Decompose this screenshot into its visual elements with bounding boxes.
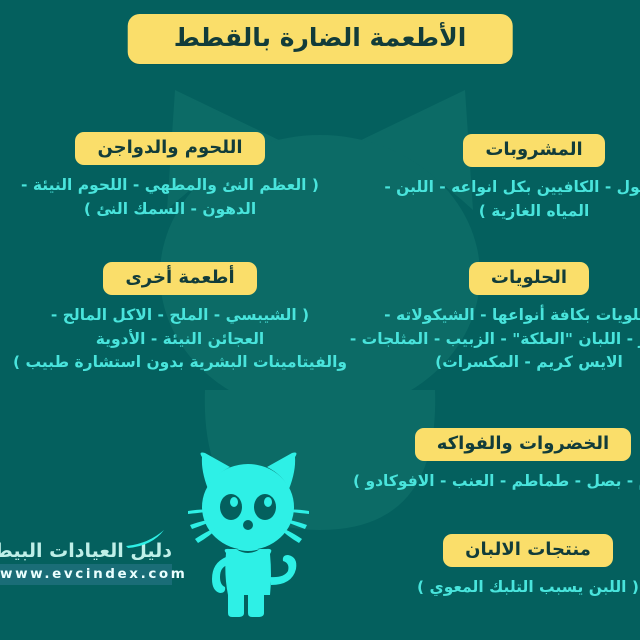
section-line: الايس كريم - المكسرات) — [374, 351, 640, 375]
section-badge-beverages: المشروبات — [463, 134, 604, 167]
section-beverages: المشروبات ( الكحول - الكافيين بكل انواعه… — [384, 134, 640, 223]
section-badge-dairy-products: منتجات الالبان — [443, 534, 613, 567]
section-badge-vegetables-and-fruits: الخضروات والفواكه — [415, 428, 631, 461]
section-line: المياه الغازية ) — [384, 200, 640, 224]
section-badge-other-foods: أطعمة أخرى — [103, 262, 256, 295]
section-line: ( ثوم - بصل - طماطم - العنب - الافوكادو … — [368, 470, 640, 494]
section-body-meat: ( العظم النئ والمطهي - اللحوم النيئة - ا… — [0, 174, 350, 221]
section-line: العجائن النيئة - الأدوية — [0, 328, 370, 352]
section-line: والفيتامينات البشرية بدون استشارة طبيب ) — [0, 351, 370, 375]
section-vegetables-and-fruits: الخضروات والفواكه ( ثوم - بصل - طماطم - … — [368, 428, 640, 494]
section-line: الدهون - السمك النئ ) — [0, 198, 350, 222]
section-line: ( الكحول - الكافيين بكل انواعه - اللبن - — [384, 176, 640, 200]
section-body-sweets: ( الحلويات بكافة أنواعها - الشيكولاته - … — [374, 304, 640, 375]
brand-website-url[interactable]: www.evcindex.com — [0, 564, 172, 585]
section-badge-sweets: الحلويات — [469, 262, 589, 295]
section-sweets: الحلويات ( الحلويات بكافة أنواعها - الشي… — [374, 262, 640, 375]
brand-logo: دليل العيادات البيطرية www.evcindex.com — [0, 540, 172, 585]
page-title: الأطعمة الضارة بالقطط — [128, 14, 513, 64]
section-dairy-products: منتجات الالبان ( اللبن يسبب التلبك المعو… — [378, 534, 640, 600]
infographic-poster: الأطعمة الضارة بالقطط اللحوم والدواجن ( … — [0, 0, 640, 640]
section-body-vegetables-and-fruits: ( ثوم - بصل - طماطم - العنب - الافوكادو … — [368, 470, 640, 494]
section-line: السكر - اللبان "العلكة" - الزبيب - المثل… — [374, 328, 640, 352]
section-other-foods: أطعمة أخرى ( الشيبسي - الملح - الاكل الم… — [0, 262, 370, 375]
section-body-other-foods: ( الشيبسي - الملح - الاكل المالح - العجا… — [0, 304, 370, 375]
section-body-beverages: ( الكحول - الكافيين بكل انواعه - اللبن -… — [384, 176, 640, 223]
cat-mascot-icon — [186, 445, 311, 620]
section-line: ( اللبن يسبب التلبك المعوي ) — [378, 576, 640, 600]
section-body-dairy-products: ( اللبن يسبب التلبك المعوي ) — [378, 576, 640, 600]
section-line: ( الشيبسي - الملح - الاكل المالح - — [0, 304, 370, 328]
section-meat-and-poultry: اللحوم والدواجن ( العظم النئ والمطهي - ا… — [0, 132, 350, 221]
swoosh-icon — [126, 530, 166, 548]
section-line: ( الحلويات بكافة أنواعها - الشيكولاته - — [374, 304, 640, 328]
section-line: ( العظم النئ والمطهي - اللحوم النيئة - — [0, 174, 350, 198]
section-badge-meat: اللحوم والدواجن — [75, 132, 264, 165]
